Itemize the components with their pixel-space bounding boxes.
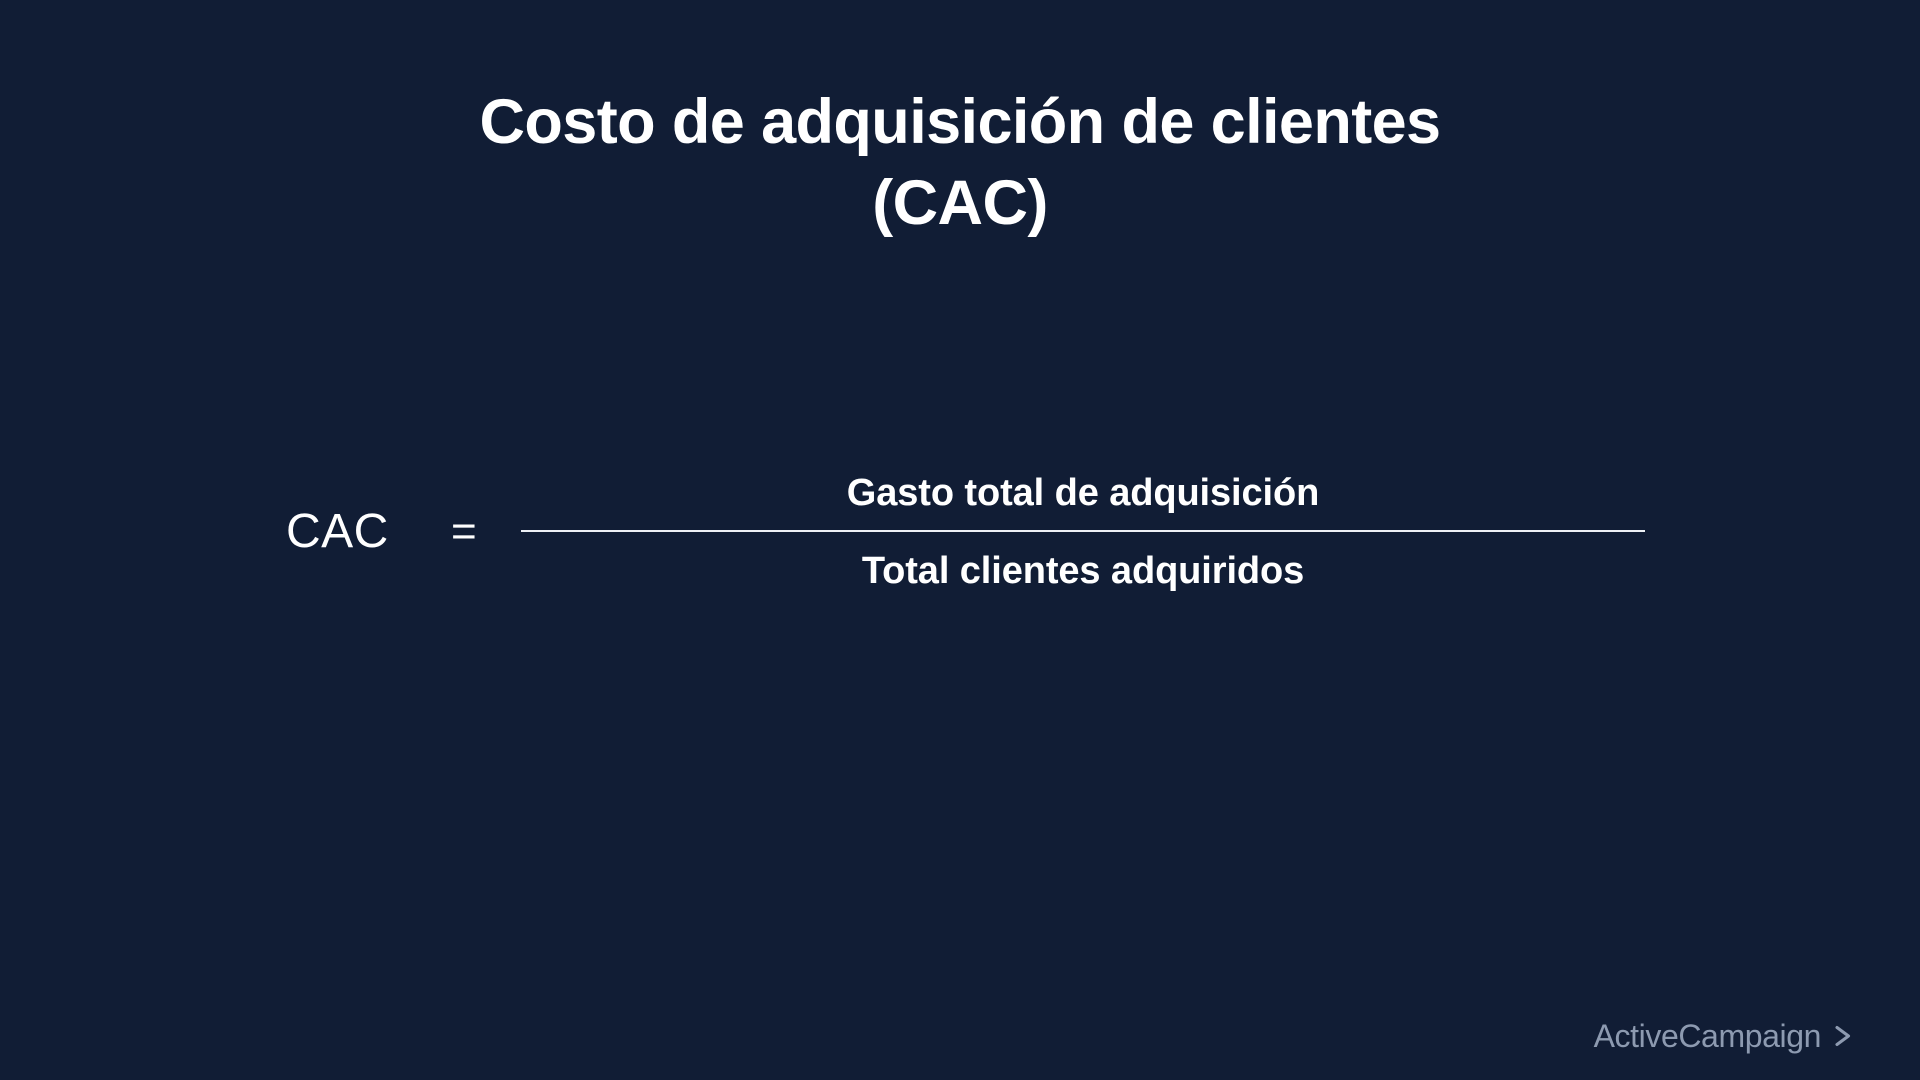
fraction-numerator: Gasto total de adquisición bbox=[847, 470, 1319, 516]
title-line-2: (CAC) bbox=[0, 163, 1920, 244]
fraction-bar bbox=[521, 530, 1645, 532]
logo-wordmark: ActiveCampaign bbox=[1594, 1020, 1821, 1052]
activecampaign-logo: ActiveCampaign bbox=[1594, 1020, 1856, 1052]
formula-left-term: CAC bbox=[286, 508, 451, 556]
page-title: Costo de adquisición de clientes (CAC) bbox=[0, 82, 1920, 244]
formula-fraction: Gasto total de adquisición Total cliente… bbox=[521, 470, 1645, 594]
fraction-denominator: Total clientes adquiridos bbox=[862, 548, 1304, 594]
slide-canvas: Costo de adquisición de clientes (CAC) C… bbox=[0, 0, 1920, 1080]
title-line-1: Costo de adquisición de clientes bbox=[0, 82, 1920, 163]
chevron-right-icon bbox=[1830, 1023, 1856, 1049]
formula-equals-sign: = bbox=[451, 510, 521, 554]
cac-formula: CAC = Gasto total de adquisición Total c… bbox=[286, 452, 1666, 612]
